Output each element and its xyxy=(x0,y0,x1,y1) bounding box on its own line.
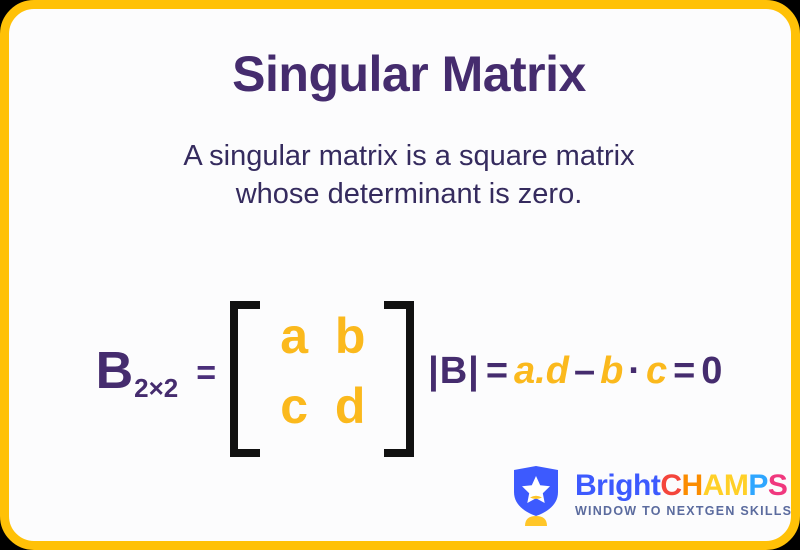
logo-letter-s: S xyxy=(768,469,788,502)
logo-wordmark: BrightCHAMPS xyxy=(575,469,787,502)
bracket-left-icon xyxy=(230,301,260,457)
determinant-result: 0 xyxy=(701,352,722,390)
matrix-cell-b: b xyxy=(322,301,378,371)
matrix-2x2: a b c d xyxy=(230,301,414,441)
determinant-term1-var2: d xyxy=(546,352,569,390)
info-card: Singular Matrix A singular matrix is a s… xyxy=(0,0,800,550)
determinant-term2-separator: · xyxy=(628,352,641,390)
shield-star-icon xyxy=(509,464,563,526)
matrix-label-subscript: 2×2 xyxy=(134,375,178,401)
matrix-cell-d: d xyxy=(322,371,378,441)
determinant-term2-var2: c xyxy=(646,352,667,390)
page-title: Singular Matrix xyxy=(9,45,800,103)
brightchamps-logo[interactable]: BrightCHAMPS WINDOW TO NEXTGEN SKILLS xyxy=(509,464,792,526)
determinant-term2-var1: b xyxy=(600,352,623,390)
equation-row: B2×2 = a b c d |B| = a . d – b · c = 0 xyxy=(9,301,800,441)
matrix-cell-c: c xyxy=(266,371,322,441)
logo-letter-h: H xyxy=(682,469,703,502)
matrix-cell-a: a xyxy=(266,301,322,371)
determinant-expression: |B| = a . d – b · c = 0 xyxy=(428,352,722,390)
determinant-term1-separator: . xyxy=(535,352,546,390)
matrix-label-letter: B xyxy=(96,345,134,397)
determinant-term1-var1: a xyxy=(514,352,535,390)
determinant-lhs: |B| xyxy=(428,352,480,390)
bracket-right-icon xyxy=(384,301,414,457)
definition-line-1: A singular matrix is a square matrix xyxy=(9,137,800,175)
determinant-equals-1: = xyxy=(486,352,508,390)
definition-line-2: whose determinant is zero. xyxy=(9,175,800,213)
logo-letter-m: M xyxy=(724,469,749,502)
logo-word-bright: Bright xyxy=(575,469,660,502)
logo-letter-p: P xyxy=(748,469,768,502)
determinant-equals-2: = xyxy=(673,352,695,390)
definition-text: A singular matrix is a square matrix who… xyxy=(9,137,800,213)
logo-text-block: BrightCHAMPS WINDOW TO NEXTGEN SKILLS xyxy=(575,470,792,520)
matrix-grid: a b c d xyxy=(266,301,378,441)
matrix-label: B2×2 xyxy=(96,345,179,397)
logo-letter-c: C xyxy=(660,469,681,502)
logo-tagline: WINDOW TO NEXTGEN SKILLS xyxy=(575,504,792,518)
equals-sign-main: = xyxy=(196,356,216,390)
logo-letter-a: A xyxy=(703,469,724,502)
determinant-minus: – xyxy=(574,352,595,390)
